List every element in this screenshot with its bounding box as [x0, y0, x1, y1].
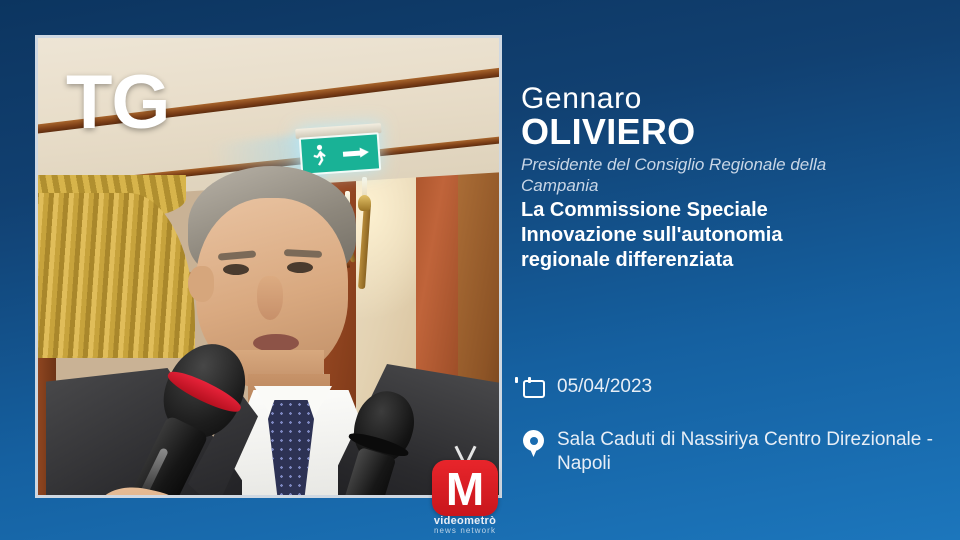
event-date-row: 05/04/2023 — [523, 375, 652, 399]
video-player-frame[interactable]: TG — [35, 35, 502, 498]
logo-letter-m: M — [432, 462, 498, 516]
event-date-text: 05/04/2023 — [557, 375, 652, 399]
event-location-row: Sala Caduti di Nassiriya Centro Direzion… — [523, 428, 941, 476]
subject-eye — [223, 264, 249, 275]
logo-tagline: news network — [423, 526, 507, 535]
lower-third-info-panel: Gennaro OLIVIERO Presidente del Consigli… — [521, 0, 941, 540]
videometro-logo[interactable]: M videometrò news network — [423, 444, 507, 532]
subject-nose — [257, 276, 283, 320]
emergency-exit-sign-icon — [299, 132, 381, 175]
person-role: Presidente del Consiglio Regionale della… — [521, 154, 851, 196]
map-pin-icon — [523, 428, 557, 430]
event-location-text: Sala Caduti di Nassiriya Centro Direzion… — [557, 428, 941, 476]
calendar-icon — [523, 375, 557, 377]
logo-mark-box: M — [432, 460, 498, 516]
video-scene: TG — [38, 38, 499, 495]
subject-eye — [287, 262, 313, 273]
scene-curtain — [38, 193, 195, 358]
story-headline: La Commissione Speciale Innovazione sull… — [521, 198, 861, 273]
person-last-name: OLIVIERO — [521, 112, 695, 152]
tg-watermark: TG — [66, 65, 170, 141]
subject-ear — [188, 266, 214, 302]
